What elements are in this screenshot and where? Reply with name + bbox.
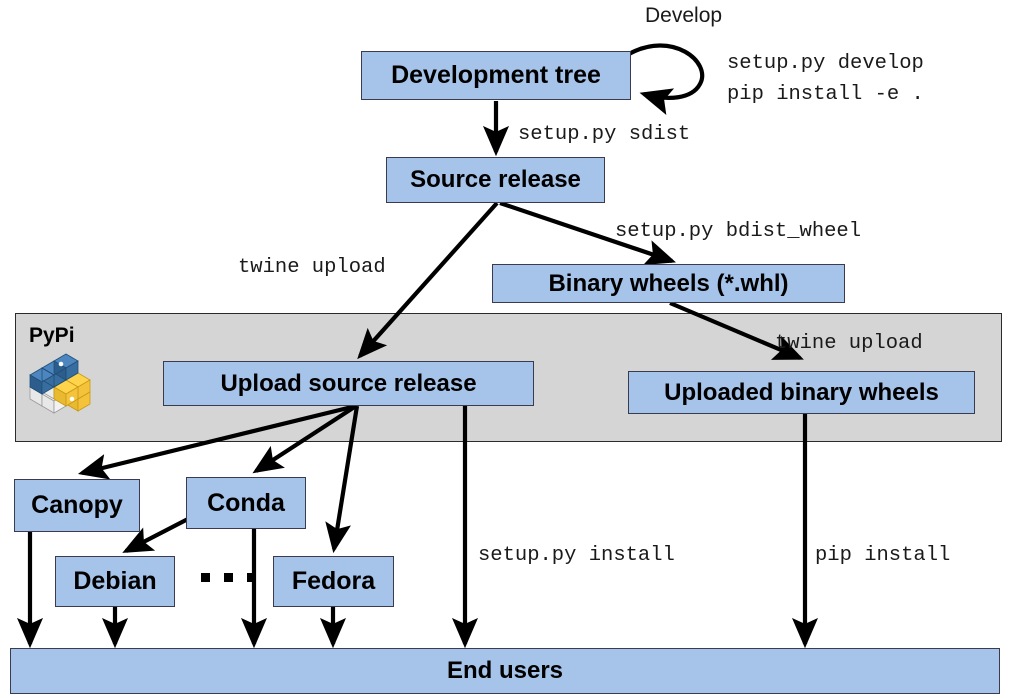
label-develop: Develop (645, 4, 722, 28)
label-twine-upload-wheels: twine upload (775, 332, 923, 355)
node-end-users[interactable]: End users (10, 648, 1000, 694)
packaging-flow-diagram: PyPi (0, 0, 1009, 698)
node-canopy[interactable]: Canopy (14, 479, 140, 532)
node-binary-wheels[interactable]: Binary wheels (*.whl) (492, 264, 845, 303)
label-setup-py-sdist: setup.py sdist (518, 123, 690, 146)
node-uploaded-binary-wheels[interactable]: Uploaded binary wheels (628, 371, 975, 414)
label-twine-upload-source: twine upload (238, 256, 386, 279)
ellipsis-dots (201, 573, 256, 582)
arrow-source-to-upload-source (360, 203, 497, 356)
arrow-upload-to-fedora (334, 406, 357, 549)
node-development-tree[interactable]: Development tree (361, 51, 631, 100)
node-conda[interactable]: Conda (186, 477, 306, 529)
node-debian[interactable]: Debian (55, 556, 175, 607)
node-upload-source-release[interactable]: Upload source release (163, 361, 534, 406)
arrow-upload-to-canopy (82, 406, 356, 473)
label-pip-install: pip install (815, 544, 950, 567)
arrow-upload-to-conda (256, 406, 356, 471)
label-setup-py-develop: setup.py develop (727, 52, 924, 75)
node-fedora[interactable]: Fedora (273, 556, 394, 607)
label-setup-py-bdist-wheel: setup.py bdist_wheel (615, 220, 861, 243)
label-pip-install-editable: pip install -e . (727, 83, 924, 106)
node-source-release[interactable]: Source release (386, 157, 605, 203)
arrow-develop-selfloop (629, 45, 702, 97)
label-setup-py-install: setup.py install (478, 544, 675, 567)
